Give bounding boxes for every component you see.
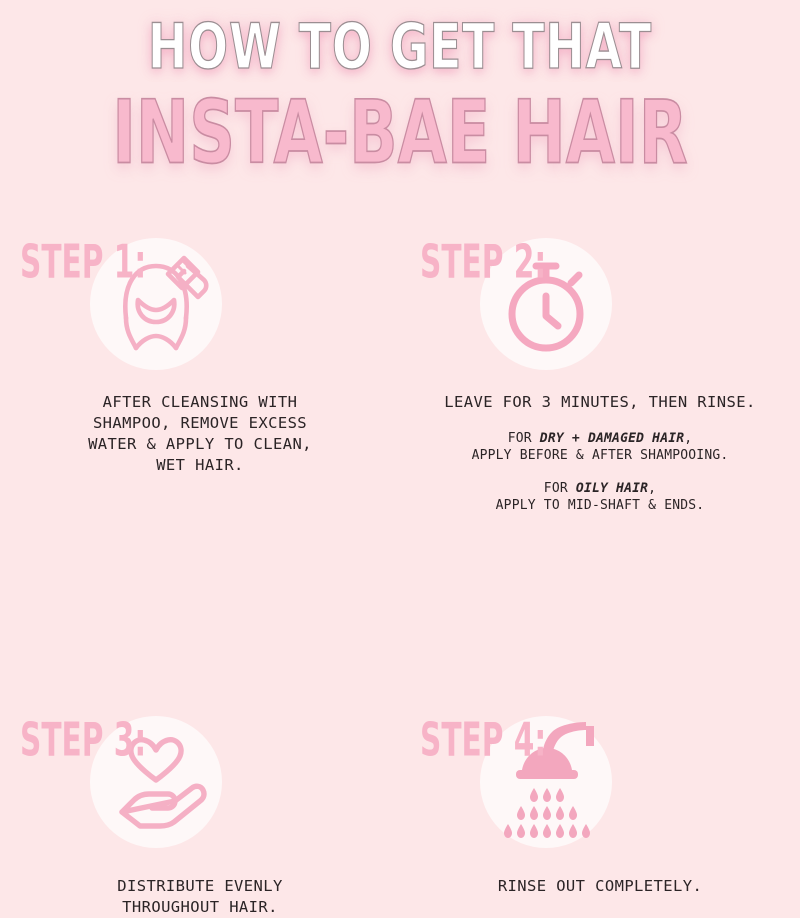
step-3-body-line: THROUGHOUT HAIR. (12, 897, 388, 918)
step-2-subblock-dry-damaged: FOR DRY + DAMAGED HAIR, APPLY BEFORE & A… (412, 430, 788, 464)
step-1-label: STEP 1: (20, 238, 146, 287)
step-1-body-line: AFTER CLEANSING WITH (12, 392, 388, 413)
step-4-header: STEP 4: (400, 706, 800, 856)
step-card-4: STEP 4: (400, 706, 800, 918)
step-1-body-line: WATER & APPLY TO CLEAN, (12, 434, 388, 455)
sub-suffix: , (684, 431, 692, 446)
headline-line-2: INSTA-BAE HAIR (56, 86, 744, 180)
step-3-body: DISTRIBUTE EVENLY THROUGHOUT HAIR. (0, 876, 400, 918)
step-1-body-line: WET HAIR. (12, 455, 388, 476)
step-2-sub-line-1: FOR DRY + DAMAGED HAIR, (412, 430, 788, 447)
step-2-sub-line-1: FOR OILY HAIR, (412, 480, 788, 497)
infographic-page: HOW TO GET THAT INSTA-BAE HAIR STEP 1: (0, 0, 800, 800)
sub-prefix: FOR (508, 431, 540, 446)
step-3-header: STEP 3: (0, 706, 400, 856)
step-1-body: AFTER CLEANSING WITH SHAMPOO, REMOVE EXC… (0, 392, 400, 476)
sub-emphasis: DRY + DAMAGED HAIR (540, 431, 684, 446)
step-2-sub-line-2: APPLY BEFORE & AFTER SHAMPOOING. (412, 447, 788, 464)
step-4-body: RINSE OUT COMPLETELY. (400, 876, 800, 897)
sub-emphasis: OILY HAIR (576, 481, 648, 496)
step-2-header: STEP 2: (400, 228, 800, 378)
step-2-label: STEP 2: (420, 238, 546, 287)
headline-block: HOW TO GET THAT INSTA-BAE HAIR (0, 14, 800, 166)
sub-suffix: , (648, 481, 656, 496)
step-2-sub-line-2: APPLY TO MID-SHAFT & ENDS. (412, 497, 788, 514)
steps-grid: STEP 1: (0, 228, 800, 918)
step-card-2: STEP 2: (400, 228, 800, 514)
step-card-3: STEP 3: (0, 706, 400, 918)
steps-row-2: STEP 3: (0, 706, 800, 918)
step-2-body-line: LEAVE FOR 3 MINUTES, THEN RINSE. (412, 392, 788, 413)
step-3-body-line: DISTRIBUTE EVENLY (12, 876, 388, 897)
step-4-label: STEP 4: (420, 716, 546, 765)
step-1-body-line: SHAMPOO, REMOVE EXCESS (12, 413, 388, 434)
step-card-1: STEP 1: (0, 228, 400, 514)
step-1-header: STEP 1: (0, 228, 400, 378)
sub-prefix: FOR (544, 481, 576, 496)
step-4-body-line: RINSE OUT COMPLETELY. (412, 876, 788, 897)
step-2-body: LEAVE FOR 3 MINUTES, THEN RINSE. FOR DRY… (400, 392, 800, 514)
headline-line-1: HOW TO GET THAT (64, 14, 736, 81)
steps-row-1: STEP 1: (0, 228, 800, 514)
step-2-subblock-oily: FOR OILY HAIR, APPLY TO MID-SHAFT & ENDS… (412, 480, 788, 514)
step-3-label: STEP 3: (20, 716, 146, 765)
